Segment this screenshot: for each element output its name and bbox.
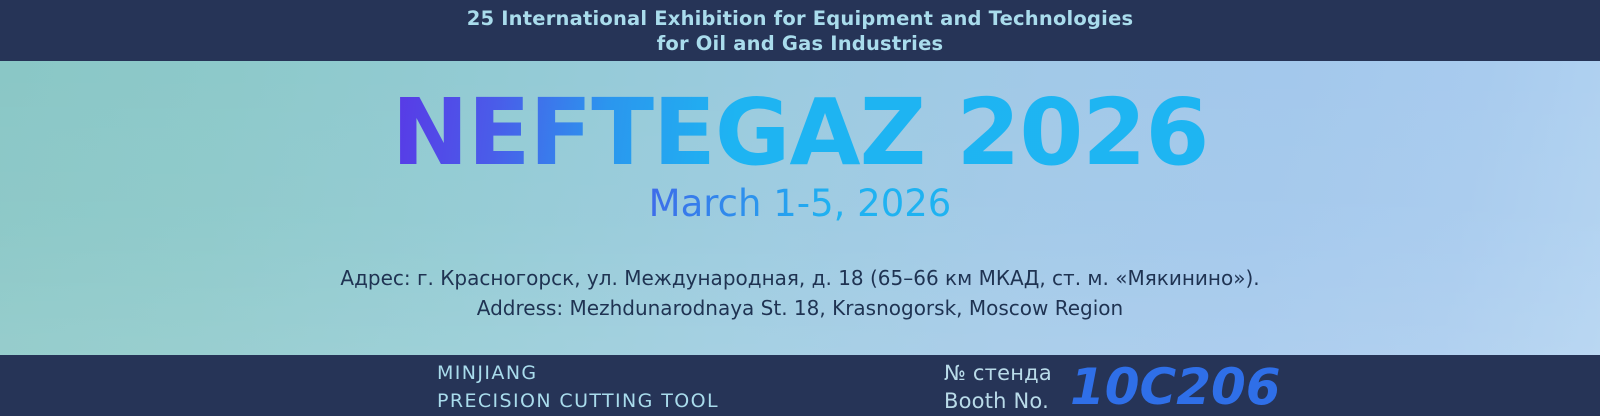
venue-address-ru: Адрес: г. Красногорск, ул. Международная… [0, 263, 1600, 293]
hero-content: NEFTEGAZ 2026 March 1-5, 2026 Адрес: г. … [0, 61, 1600, 355]
hero-section: NEFTEGAZ 2026 March 1-5, 2026 Адрес: г. … [0, 61, 1600, 355]
booth-number: 10C206 [1070, 359, 1281, 415]
exhibition-banner: 25 International Exhibition for Equipmen… [0, 0, 1600, 416]
company-descriptor: PRECISION CUTTING TOOL [437, 387, 719, 415]
booth-label-en: Booth No. [944, 387, 1052, 415]
booth-labels: № стенда Booth No. [944, 359, 1052, 415]
venue-address-block: Адрес: г. Красногорск, ул. Международная… [0, 225, 1600, 323]
event-wordmark: NEFTEGAZ 2026 [0, 61, 1600, 181]
event-dates: March 1-5, 2026 [0, 181, 1600, 225]
booth-info: № стенда Booth No. 10C206 [944, 359, 1281, 415]
venue-address-en: Address: Mezhdunarodnaya St. 18, Krasnog… [0, 293, 1600, 323]
footer-bar: MINJIANG PRECISION CUTTING TOOL № стенда… [0, 355, 1600, 416]
header-bar: 25 International Exhibition for Equipmen… [0, 0, 1600, 61]
exhibition-tagline: 25 International Exhibition for Equipmen… [467, 6, 1134, 56]
exhibitor-identity: MINJIANG PRECISION CUTTING TOOL [437, 359, 719, 415]
company-name: MINJIANG [437, 359, 719, 387]
booth-label-ru: № стенда [944, 359, 1052, 387]
